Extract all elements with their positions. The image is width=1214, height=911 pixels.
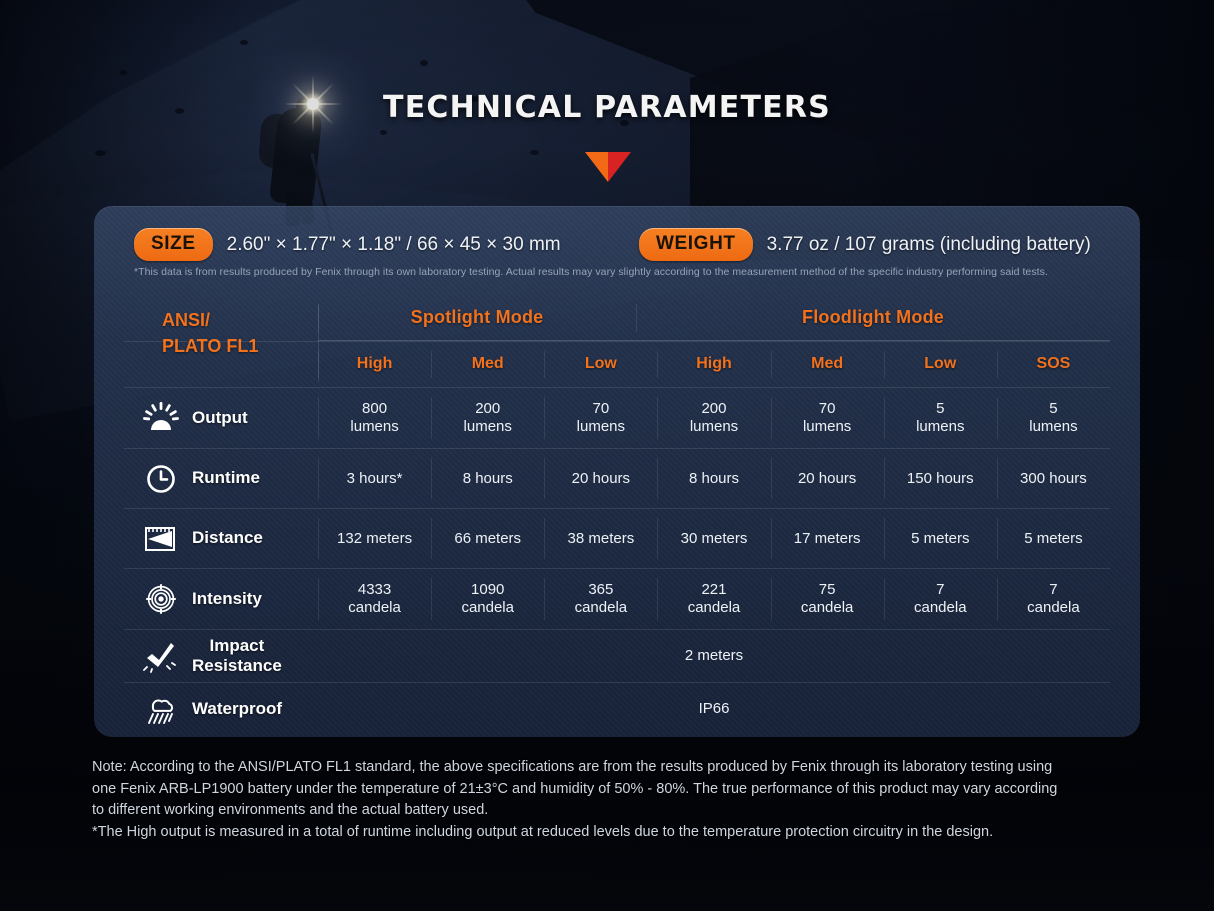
row-label-text-runtime: Runtime — [192, 468, 260, 488]
cell-runtime-spot-high: 3 hours* — [318, 449, 431, 508]
cell-distance-flood-high: 30 meters — [657, 509, 770, 568]
note-line-4: *The High output is measured in a total … — [92, 822, 1132, 844]
footer-note: Note: According to the ANSI/PLATO FL1 st… — [92, 757, 1132, 843]
row-label-distance: Distance — [124, 509, 318, 568]
cell-impact-resistance-value: 2 meters — [318, 630, 1110, 682]
row-label-text-output: Output — [192, 408, 248, 428]
size-badge: SIZE — [134, 228, 213, 261]
table-row-waterproof: Waterproof IP66 — [124, 683, 1110, 735]
impact-label-line-2: Resistance — [192, 656, 282, 675]
spec-panel: SIZE 2.60" × 1.77" × 1.18" / 66 × 45 × 3… — [94, 206, 1140, 737]
cell-distance-spot-low: 38 meters — [544, 509, 657, 568]
cell-distance-flood-med: 17 meters — [771, 509, 884, 568]
row-label-waterproof: Waterproof — [124, 683, 318, 735]
weight-group: WEIGHT 3.77 oz / 107 grams (including ba… — [639, 228, 1091, 261]
row-label-text-intensity: Intensity — [192, 589, 262, 609]
cell-distance-flood-low: 5 meters — [884, 509, 997, 568]
header-corner-spacer-2 — [124, 342, 318, 387]
cell-output-flood-high: 200lumens — [657, 388, 770, 448]
table-row-output: Output 800lumens 200lumens 70lumens 200l… — [124, 388, 1110, 449]
waterproof-label: Waterproof — [192, 699, 282, 719]
sunburst-icon — [142, 401, 180, 435]
cell-intensity-spot-med: 1090candela — [431, 569, 544, 629]
row-label-runtime: Runtime — [124, 449, 318, 508]
row-label-impact-resistance: Impact Resistance — [124, 630, 318, 682]
cell-output-flood-med: 70lumens — [771, 388, 884, 448]
group-header-floodlight: Floodlight Mode — [636, 295, 1110, 341]
table-row-intensity: Intensity 4333candela 1090candela 365can… — [124, 569, 1110, 630]
column-header-spot-low: Low — [544, 342, 657, 387]
mode-columns-header-row: High Med Low High Med Low SOS — [124, 342, 1110, 388]
floodlight-mode-label: Floodlight Mode — [802, 307, 944, 328]
technical-parameters-page: TECHNICAL PARAMETERS SIZE 2.60" × 1.77" … — [0, 0, 1214, 911]
cell-runtime-flood-high: 8 hours — [657, 449, 770, 508]
table-row-impact-resistance: Impact Resistance 2 meters — [124, 630, 1110, 683]
cell-waterproof-value: IP66 — [318, 683, 1110, 735]
cell-intensity-spot-low: 365candela — [544, 569, 657, 629]
note-line-1: Note: According to the ANSI/PLATO FL1 st… — [92, 757, 1132, 779]
impact-icon — [142, 639, 180, 673]
cell-intensity-flood-sos: 7candela — [997, 569, 1110, 629]
cell-intensity-flood-high: 221candela — [657, 569, 770, 629]
header-corner-spacer — [124, 295, 318, 341]
column-header-flood-low: Low — [884, 342, 997, 387]
page-title: TECHNICAL PARAMETERS — [0, 90, 1214, 125]
column-header-spot-med: Med — [431, 342, 544, 387]
note-line-3: to different working environments and th… — [92, 800, 1132, 822]
cell-distance-flood-sos: 5 meters — [997, 509, 1110, 568]
cell-output-flood-sos: 5lumens — [997, 388, 1110, 448]
column-header-flood-sos: SOS — [997, 342, 1110, 387]
cell-runtime-flood-low: 150 hours — [884, 449, 997, 508]
row-label-output: Output — [124, 388, 318, 448]
size-group: SIZE 2.60" × 1.77" × 1.18" / 66 × 45 × 3… — [134, 228, 561, 261]
lab-testing-disclaimer: *This data is from results produced by F… — [134, 266, 1100, 278]
impact-label-line-1: Impact — [209, 636, 264, 655]
table-row-distance: Distance 132 meters 66 meters 38 meters … — [124, 509, 1110, 569]
size-weight-row: SIZE 2.60" × 1.77" × 1.18" / 66 × 45 × 3… — [94, 228, 1140, 268]
specs-table: ANSI/ PLATO FL1 Spotlight Mode Floodligh… — [124, 295, 1110, 735]
target-icon — [142, 582, 180, 616]
cell-output-spot-high: 800lumens — [318, 388, 431, 448]
chevron-down-icon — [585, 152, 631, 184]
column-header-flood-high: High — [657, 342, 770, 387]
cell-intensity-spot-high: 4333candela — [318, 569, 431, 629]
ruler-beam-icon — [142, 522, 180, 556]
cell-output-spot-low: 70lumens — [544, 388, 657, 448]
clock-icon — [142, 462, 180, 496]
cell-intensity-flood-med: 75candela — [771, 569, 884, 629]
row-label-text-distance: Distance — [192, 528, 263, 548]
mode-group-header-row: Spotlight Mode Floodlight Mode — [124, 295, 1110, 342]
table-row-runtime: Runtime 3 hours* 8 hours 20 hours 8 hour… — [124, 449, 1110, 509]
cell-intensity-flood-low: 7candela — [884, 569, 997, 629]
cell-output-flood-low: 5lumens — [884, 388, 997, 448]
cell-runtime-spot-med: 8 hours — [431, 449, 544, 508]
note-line-2: one Fenix ARB-LP1900 battery under the t… — [92, 779, 1132, 801]
spotlight-mode-label: Spotlight Mode — [411, 307, 544, 328]
weight-value: 3.77 oz / 107 grams (including battery) — [767, 234, 1091, 256]
weight-badge: WEIGHT — [639, 228, 753, 261]
cell-distance-spot-high: 132 meters — [318, 509, 431, 568]
column-header-spot-high: High — [318, 342, 431, 387]
row-label-intensity: Intensity — [124, 569, 318, 629]
cell-runtime-flood-med: 20 hours — [771, 449, 884, 508]
cell-distance-spot-med: 66 meters — [431, 509, 544, 568]
cell-runtime-flood-sos: 300 hours — [997, 449, 1110, 508]
size-value: 2.60" × 1.77" × 1.18" / 66 × 45 × 30 mm — [227, 234, 561, 256]
table-header: ANSI/ PLATO FL1 Spotlight Mode Floodligh… — [124, 295, 1110, 388]
rain-cloud-icon — [142, 692, 180, 726]
cell-output-spot-med: 200lumens — [431, 388, 544, 448]
cell-runtime-spot-low: 20 hours — [544, 449, 657, 508]
group-header-spotlight: Spotlight Mode — [318, 295, 636, 341]
column-header-flood-med: Med — [771, 342, 884, 387]
